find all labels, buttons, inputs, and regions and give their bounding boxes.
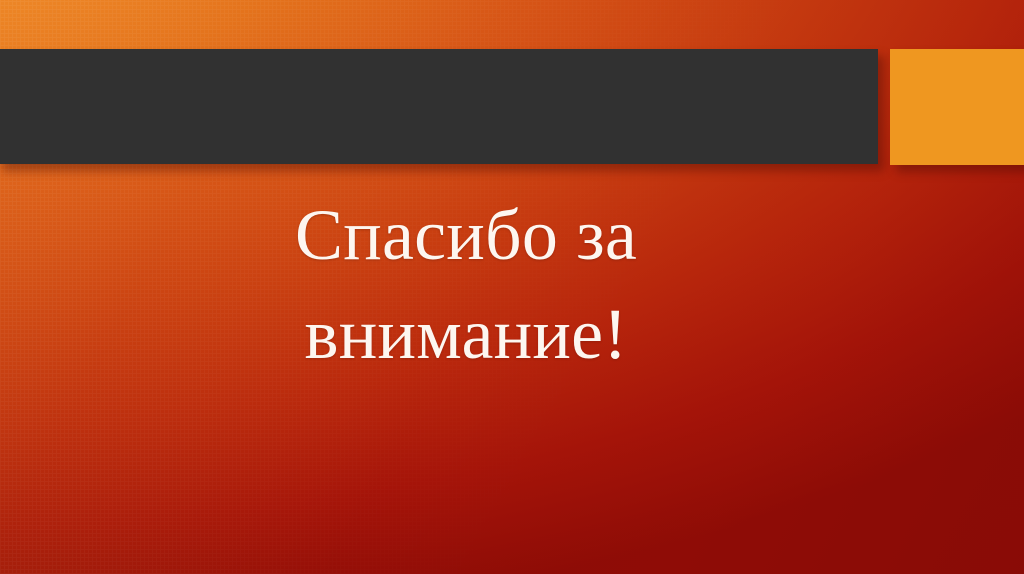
slide-title-line-1: Спасибо за [96, 186, 836, 285]
slide-title: Спасибо за внимание! [96, 186, 836, 385]
dark-banner-bar [0, 49, 878, 164]
slide-canvas: Спасибо за внимание! [0, 0, 1024, 574]
slide-title-line-2: внимание! [96, 285, 836, 384]
orange-accent-square [890, 49, 1024, 165]
